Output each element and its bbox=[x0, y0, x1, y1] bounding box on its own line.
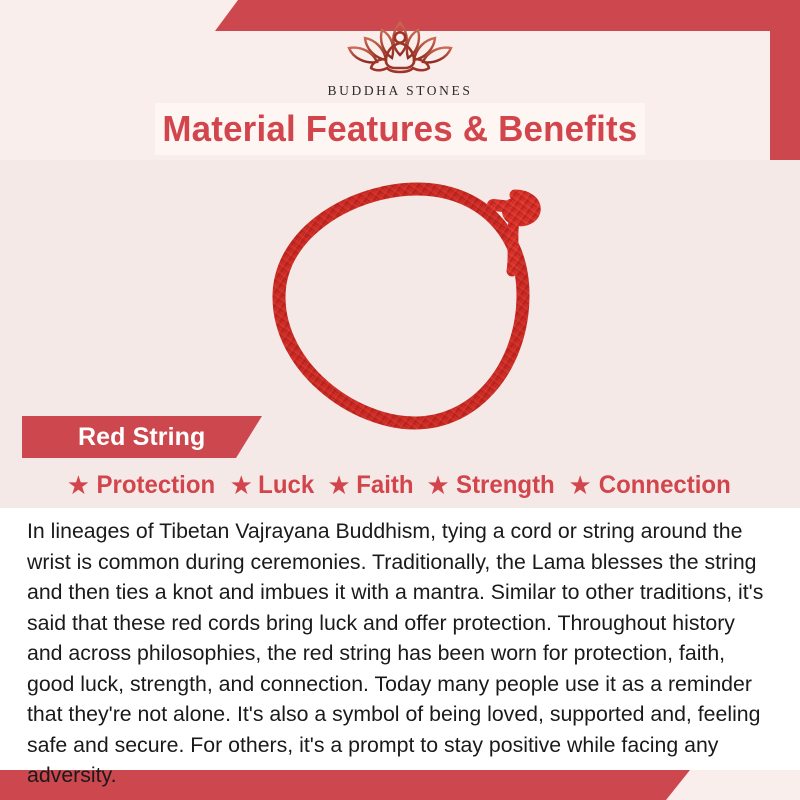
benefits-list: ★ Protection ★ Luck ★ Faith ★ Strength ★… bbox=[30, 466, 770, 504]
benefit-item-luck: ★ Luck bbox=[230, 471, 316, 500]
product-name-ribbon: Red String bbox=[22, 416, 262, 458]
star-icon: ★ bbox=[426, 472, 449, 498]
benefit-label: Protection bbox=[97, 471, 216, 500]
brand-name: BUDDHA STONES bbox=[328, 83, 473, 99]
star-icon: ★ bbox=[230, 472, 253, 498]
benefit-item-strength: ★ Strength bbox=[426, 471, 556, 500]
benefit-item-connection: ★ Connection bbox=[568, 471, 733, 500]
benefit-label: Luck bbox=[258, 471, 314, 500]
benefit-item-protection: ★ Protection bbox=[67, 471, 218, 500]
ribbon-label: Red String bbox=[78, 423, 205, 452]
brand-logo: BUDDHA STONES bbox=[0, 14, 800, 99]
description-text: In lineages of Tibetan Vajrayana Buddhis… bbox=[27, 516, 771, 791]
benefit-label: Connection bbox=[599, 471, 731, 500]
star-icon: ★ bbox=[327, 472, 350, 498]
benefit-label: Faith bbox=[356, 471, 413, 500]
infographic-page: BUDDHA STONES Material Features & Benefi… bbox=[0, 0, 800, 800]
title-banner: Material Features & Benefits bbox=[155, 103, 645, 155]
product-image-red-string-bracelet bbox=[265, 175, 575, 440]
benefit-item-faith: ★ Faith bbox=[327, 471, 414, 500]
lotus-meditation-icon bbox=[325, 14, 475, 80]
star-icon: ★ bbox=[67, 472, 90, 498]
page-title: Material Features & Benefits bbox=[162, 108, 637, 150]
benefit-label: Strength bbox=[456, 471, 555, 500]
star-icon: ★ bbox=[568, 472, 591, 498]
